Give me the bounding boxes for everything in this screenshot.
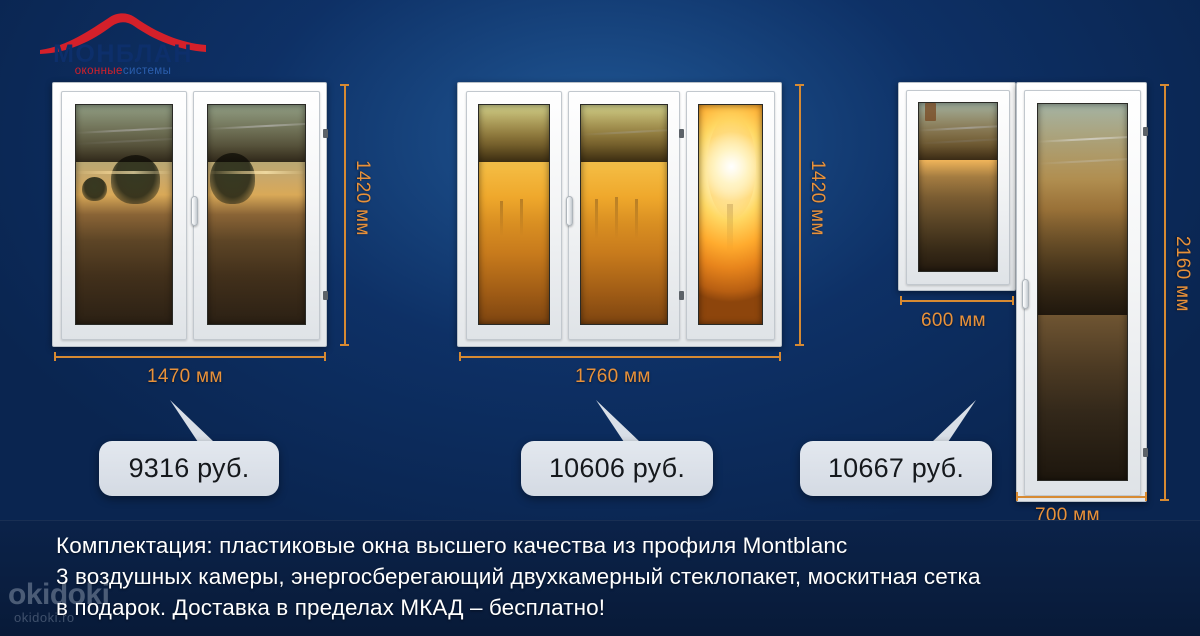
window-sash-left[interactable] [61,91,187,340]
dimension-label-height: 1420 мм [351,160,373,236]
dimension-label-width: 1760 мм [575,366,651,388]
balcony-window-frame [898,82,1016,291]
dimension-line-door-width [1016,492,1147,501]
glass-pane [698,104,763,325]
glass-pane [1037,103,1128,481]
advertisement-canvas: МОНБЛАН оконныесистемы [0,0,1200,636]
price-bubble[interactable]: 10606 руб. [521,441,713,496]
brand-logo: МОНБЛАН оконныесистемы [38,10,208,78]
dimension-label-window-width: 600 мм [921,310,986,332]
dimension-label-width: 1470 мм [147,366,223,388]
glass-pane [580,104,668,325]
brand-tagline-blue: системы [123,65,171,77]
window-frame [52,82,327,347]
glass-pane [207,104,306,325]
callout-tail [920,398,980,444]
callout-tail [168,398,228,444]
glass-pane [478,104,550,325]
dimension-line-height [795,84,804,346]
brand-name: МОНБЛАН [38,42,208,67]
hinge-top-icon [1143,127,1148,136]
window-handle[interactable] [191,196,198,226]
price-bubble[interactable]: 9316 руб. [99,441,279,496]
dimension-line-height [340,84,349,346]
dimension-line-width [459,352,781,361]
hinge-bottom-icon [1143,448,1148,457]
window-handle[interactable] [566,196,573,226]
window-sash-right[interactable] [193,91,320,340]
description-line-3: в подарок. Доставка в пределах МКАД – бе… [56,595,605,621]
callout-tail [594,398,654,444]
price-value: 10667 руб. [828,453,964,484]
price-bubble[interactable]: 10667 руб. [800,441,992,496]
hinge-bottom-icon [323,291,328,300]
door-handle[interactable] [1022,279,1029,309]
dimension-label-height: 2160 мм [1171,236,1193,312]
description-line-2: 3 воздушных камеры, энергосберегающий дв… [56,564,981,590]
brand-tagline: оконныесистемы [38,66,208,78]
balcony-door-sash[interactable] [1024,90,1141,496]
price-value: 10606 руб. [549,453,685,484]
description-line-1: Комплектация: пластиковые окна высшего к… [56,533,847,559]
description-band: Комплектация: пластиковые окна высшего к… [0,520,1200,636]
glass-pane [918,102,998,272]
hinge-bottom-icon [679,291,684,300]
balcony-window-sash [906,90,1010,285]
hinge-top-icon [679,129,684,138]
glass-pane [75,104,173,325]
dimension-line-width [54,352,326,361]
dimension-line-window-width [900,296,1014,305]
dimension-line-height [1160,84,1169,501]
dimension-label-height: 1420 мм [806,160,828,236]
brand-tagline-red: оконные [75,65,123,77]
price-value: 9316 руб. [129,453,250,484]
window-sash-middle[interactable] [568,91,680,340]
window-sash-left [466,91,562,340]
balcony-door-frame [1016,82,1147,502]
hinge-top-icon [323,129,328,138]
window-frame [457,82,782,347]
window-sash-right [686,91,775,340]
